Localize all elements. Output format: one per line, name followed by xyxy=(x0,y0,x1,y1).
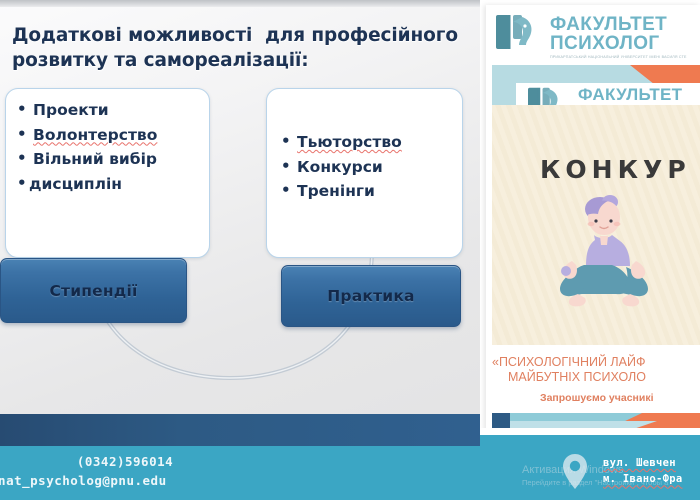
list-item-label: Тьюторство xyxy=(297,133,402,151)
bar-practice: Практика xyxy=(281,265,461,327)
bar-stipend: Стипендії xyxy=(0,258,187,323)
contact-email: kanat_psycholog@pnu.edu xyxy=(0,471,250,490)
poster-logo2-line1: ФАКУЛЬТЕТ xyxy=(578,85,682,104)
list-item-label: Проекти xyxy=(33,101,109,119)
poster-logo-text: ФАКУЛЬТЕТ ПСИХОЛОГ xyxy=(550,15,667,53)
poster-logo-line2: ПСИХОЛОГ xyxy=(550,33,660,54)
address-text: вул. Шевчен м. Івано-Фра xyxy=(603,455,682,488)
list-item-label: дисциплін xyxy=(29,175,122,193)
title-line-1: Додаткові можливості для професійного xyxy=(12,24,460,49)
presentation-slide: Додаткові можливості для професійного ро… xyxy=(0,0,700,500)
list-item: Проекти xyxy=(13,101,209,121)
poster-tagline-line1: «ПСИХОЛОГІЧНИЙ ЛАЙФ xyxy=(492,355,645,369)
list-item-label: Волонтерство xyxy=(33,126,157,144)
list-item-label: Вільний вибір xyxy=(33,150,157,168)
card-right: Тьюторство Конкурси Тренінги xyxy=(266,88,463,258)
poster-heading: КОНКУР xyxy=(540,155,691,184)
list-item: Волонтерство xyxy=(13,126,209,146)
list-item: Вільний вибір xyxy=(13,150,209,170)
poster-invite: Запрошуємо учасникі xyxy=(540,392,654,404)
poster-tagline: «ПСИХОЛОГІЧНИЙ ЛАЙФ МАЙБУТНІХ ПСИХОЛО xyxy=(492,355,700,385)
bar-stipend-label: Стипендії xyxy=(49,282,137,300)
list-item-continuation: дисциплін xyxy=(13,175,209,195)
location-pin-icon xyxy=(560,452,590,492)
meditating-person-icon xyxy=(548,195,668,325)
poster-logo: ФАКУЛЬТЕТ ПСИХОЛОГ ПРИКАРПАТСЬКИЙ НАЦІОН… xyxy=(492,11,700,63)
contact-block: (0342)596014 kanat_psycholog@pnu.edu xyxy=(0,452,250,491)
card-left-list: Проекти Волонтерство Вільний вибір дисци… xyxy=(13,101,209,194)
card-left: Проекти Волонтерство Вільний вибір дисци… xyxy=(5,88,210,258)
slide-top-strip xyxy=(0,0,480,7)
poster-logo-subtitle: ПРИКАРПАТСЬКИЙ НАЦІОНАЛЬНИЙ УНІВЕРСИТЕТ … xyxy=(550,55,687,59)
list-item-label: Конкурси xyxy=(297,158,383,176)
bar-practice-label: Практика xyxy=(327,287,414,305)
list-item: Тьюторство xyxy=(277,133,462,153)
footer-band-blue xyxy=(0,414,480,446)
list-item: Тренінги xyxy=(277,182,462,202)
address-line-1: вул. Шевчен xyxy=(603,455,682,471)
card-right-list: Тьюторство Конкурси Тренінги xyxy=(277,133,462,202)
title-line-2: розвитку та самореалізації: xyxy=(12,49,460,74)
contact-phone: (0342)596014 xyxy=(0,452,250,471)
list-item: Конкурси xyxy=(277,158,462,178)
poster-tagline-line2: МАЙБУТНІХ ПСИХОЛО xyxy=(508,370,700,385)
list-item-label: Тренінги xyxy=(297,182,375,200)
poster-logo-line1: ФАКУЛЬТЕТ xyxy=(550,14,667,35)
page-title: Додаткові можливості для професійного ро… xyxy=(12,24,460,73)
address-line-2: м. Івано-Фра xyxy=(603,471,682,487)
psi-face-logo-icon xyxy=(492,11,544,59)
slide-canvas: Додаткові можливості для професійного ро… xyxy=(0,0,480,500)
